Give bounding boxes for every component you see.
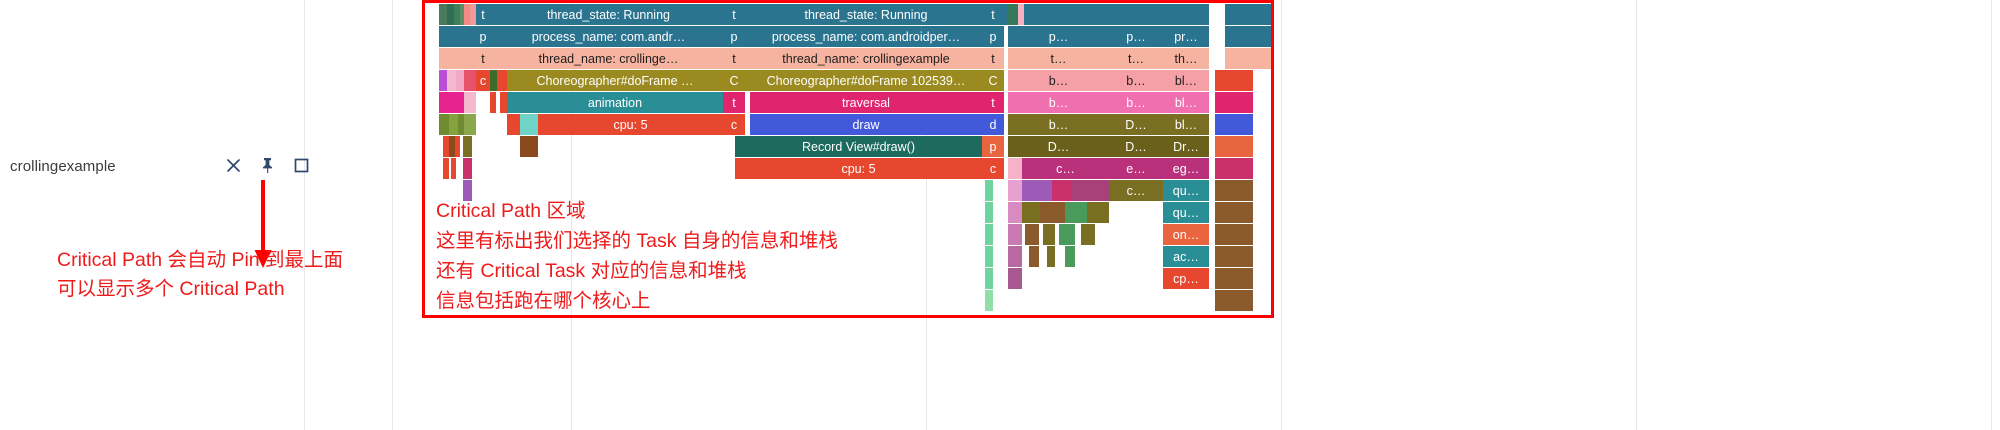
slice[interactable] — [463, 136, 472, 157]
slice[interactable] — [1225, 26, 1271, 47]
slice-labeled[interactable]: b… — [1109, 92, 1163, 113]
slice[interactable] — [1225, 4, 1271, 25]
slice-labeled[interactable]: t — [476, 48, 490, 69]
slice[interactable] — [985, 202, 993, 223]
slice-labeled[interactable]: thread_state: Running — [494, 4, 723, 25]
slice-labeled[interactable]: Choreographer#doFrame … — [507, 70, 723, 91]
time-gridline — [1281, 0, 1282, 430]
slice[interactable] — [1225, 48, 1271, 69]
annotation-main-line-1: Critical Path 区域 — [436, 196, 838, 226]
slice[interactable] — [464, 92, 476, 113]
slice-labeled[interactable]: e… — [1109, 158, 1163, 179]
slice[interactable] — [1059, 224, 1075, 245]
slice[interactable] — [447, 70, 456, 91]
slice-labeled[interactable]: traversal — [750, 92, 982, 113]
slice[interactable] — [490, 92, 496, 113]
slice-labeled[interactable]: c — [982, 158, 1004, 179]
track-shell-divider — [392, 0, 393, 430]
annotation-main-line-2: 这里有标出我们选择的 Task 自身的信息和堆栈 — [436, 226, 838, 256]
slice[interactable] — [1215, 158, 1253, 179]
slice-labeled[interactable]: C — [723, 70, 745, 91]
slice[interactable] — [1215, 114, 1253, 135]
slice[interactable] — [439, 48, 476, 69]
slice[interactable] — [449, 92, 464, 113]
slice-labeled[interactable]: b… — [1008, 70, 1109, 91]
annotation-left-line-2: 可以显示多个 Critical Path — [57, 275, 343, 304]
slice[interactable] — [1163, 4, 1209, 25]
slice-labeled[interactable]: t… — [1109, 48, 1163, 69]
slice[interactable] — [1215, 136, 1253, 157]
track-shell-buttons — [222, 154, 312, 176]
slice-labeled[interactable]: th… — [1163, 48, 1209, 69]
slice[interactable] — [1047, 246, 1055, 267]
slice-labeled[interactable]: t… — [1008, 48, 1109, 69]
slice[interactable] — [463, 158, 472, 179]
slice-labeled[interactable]: thread_name: crollingexample — [750, 48, 982, 69]
slice-labeled[interactable]: c — [723, 114, 745, 135]
slice[interactable] — [1065, 246, 1075, 267]
slice-labeled[interactable]: process_name: com.andr… — [494, 26, 723, 47]
slice-labeled[interactable]: c… — [1022, 158, 1109, 179]
slice[interactable] — [1065, 202, 1087, 223]
slice-labeled[interactable]: on… — [1163, 224, 1209, 245]
screenshot-root: crollingexample — [0, 0, 2000, 430]
slice-labeled[interactable]: t — [982, 4, 1004, 25]
slice[interactable] — [500, 92, 507, 113]
slice[interactable] — [1008, 268, 1022, 289]
slice[interactable] — [1040, 202, 1065, 223]
slice-labeled[interactable]: D… — [1008, 136, 1109, 157]
slice[interactable] — [451, 158, 456, 179]
slice[interactable] — [439, 70, 447, 91]
slice[interactable] — [985, 290, 993, 311]
slice-labeled[interactable]: D… — [1109, 114, 1163, 135]
slice[interactable] — [497, 70, 507, 91]
annotation-left: Critical Path 会自动 Pin 到最上面 可以显示多个 Critic… — [57, 246, 343, 304]
slice-labeled[interactable]: cpu: 5 — [735, 158, 982, 179]
slice-labeled[interactable]: p — [982, 26, 1004, 47]
close-icon[interactable] — [222, 154, 244, 176]
slice-labeled[interactable]: t — [723, 48, 745, 69]
slice-labeled[interactable]: animation — [507, 92, 723, 113]
slice[interactable] — [520, 136, 538, 157]
slice[interactable] — [1022, 180, 1052, 201]
slice-labeled[interactable]: t — [982, 48, 1004, 69]
slice[interactable] — [985, 268, 993, 289]
slice-labeled[interactable]: Dr… — [1163, 136, 1209, 157]
slice[interactable] — [464, 114, 476, 135]
slice[interactable] — [985, 180, 993, 201]
slice-labeled[interactable]: process_name: com.androidper… — [750, 26, 982, 47]
annotation-main-line-3: 还有 Critical Task 对应的信息和堆栈 — [436, 256, 838, 286]
slice[interactable] — [985, 246, 993, 267]
slice[interactable] — [464, 70, 476, 91]
slice-labeled[interactable]: bl… — [1163, 114, 1209, 135]
slice-labeled[interactable]: qu… — [1163, 202, 1209, 223]
slice[interactable] — [985, 224, 993, 245]
slice[interactable] — [1215, 290, 1253, 311]
track-title: crollingexample — [10, 158, 116, 175]
slice[interactable] — [1043, 224, 1055, 245]
slice-labeled[interactable]: Record View#draw() — [735, 136, 982, 157]
slice[interactable] — [1052, 180, 1072, 201]
slice[interactable] — [443, 158, 449, 179]
slice-labeled[interactable]: p — [723, 26, 745, 47]
slice[interactable] — [1072, 180, 1109, 201]
annotation-main: Critical Path 区域 这里有标出我们选择的 Task 自身的信息和堆… — [436, 196, 838, 316]
slice[interactable] — [1008, 246, 1022, 267]
slice[interactable] — [1025, 224, 1039, 245]
slice-labeled[interactable]: D… — [1109, 136, 1163, 157]
slice[interactable] — [1215, 202, 1253, 223]
slice-labeled[interactable]: b… — [1109, 70, 1163, 91]
area-select-icon[interactable] — [290, 154, 312, 176]
slice[interactable] — [1087, 202, 1109, 223]
slice[interactable] — [507, 114, 520, 135]
slice-labeled[interactable]: Choreographer#doFrame 102539… — [750, 70, 982, 91]
annotation-left-line-1: Critical Path 会自动 Pin 到最上面 — [57, 246, 343, 275]
slice-labeled[interactable]: p — [982, 136, 1004, 157]
slice-labeled[interactable]: t — [723, 92, 745, 113]
slice[interactable] — [520, 114, 538, 135]
slice[interactable] — [1215, 70, 1253, 91]
time-gridline — [304, 0, 305, 430]
slice-labeled[interactable]: t — [723, 4, 745, 25]
slice-labeled[interactable]: b… — [1008, 92, 1109, 113]
pin-icon[interactable] — [256, 154, 278, 176]
slice-labeled[interactable]: bl… — [1163, 70, 1209, 91]
slice[interactable] — [1081, 224, 1095, 245]
slice[interactable] — [439, 114, 449, 135]
slice-labeled[interactable]: C — [982, 70, 1004, 91]
slice-labeled[interactable]: p — [476, 26, 490, 47]
slice-labeled[interactable]: t — [476, 4, 490, 25]
slice[interactable] — [447, 4, 454, 25]
annotation-main-line-4: 信息包括跑在哪个核心上 — [436, 286, 838, 316]
slice-labeled[interactable]: pr… — [1163, 26, 1209, 47]
slice-labeled[interactable]: thread_name: crollinge… — [494, 48, 723, 69]
time-gridline — [1991, 0, 1992, 430]
slice-labeled[interactable]: p… — [1008, 26, 1109, 47]
slice[interactable] — [439, 26, 476, 47]
slice[interactable] — [1008, 4, 1018, 25]
slice-labeled[interactable]: t — [982, 92, 1004, 113]
slice[interactable] — [439, 92, 449, 113]
slice[interactable] — [456, 70, 464, 91]
slice[interactable] — [1215, 268, 1253, 289]
slice-labeled[interactable]: qu… — [1163, 180, 1209, 201]
slice-labeled[interactable]: cpu: 5 — [538, 114, 723, 135]
slice[interactable] — [439, 4, 447, 25]
slice-labeled[interactable]: c… — [1109, 180, 1163, 201]
slice-labeled[interactable]: eg… — [1163, 158, 1209, 179]
slice-labeled[interactable]: d — [982, 114, 1004, 135]
slice[interactable] — [1008, 202, 1022, 223]
slice-labeled[interactable]: draw — [750, 114, 982, 135]
slice[interactable] — [1031, 4, 1109, 25]
slice[interactable] — [449, 114, 458, 135]
slice[interactable] — [1008, 224, 1022, 245]
slice[interactable] — [490, 70, 497, 91]
slice[interactable] — [455, 136, 460, 157]
slice[interactable] — [1022, 202, 1040, 223]
slice[interactable] — [1008, 158, 1022, 179]
slice-labeled[interactable]: ac… — [1163, 246, 1209, 267]
slice-labeled[interactable]: cp… — [1163, 268, 1209, 289]
slice-labeled[interactable]: bl… — [1163, 92, 1209, 113]
slice-labeled[interactable]: b… — [1008, 114, 1109, 135]
slice[interactable] — [1029, 246, 1039, 267]
slice-labeled[interactable]: p… — [1109, 26, 1163, 47]
slice[interactable] — [1215, 246, 1253, 267]
slice[interactable] — [1109, 4, 1163, 25]
slice[interactable] — [1024, 4, 1031, 25]
slice[interactable] — [1215, 180, 1253, 201]
track-shell[interactable]: crollingexample — [0, 148, 390, 192]
slice-labeled[interactable]: thread_state: Running — [750, 4, 982, 25]
time-gridline — [1636, 0, 1637, 430]
slice[interactable] — [1215, 92, 1253, 113]
slice-labeled[interactable]: c — [476, 70, 490, 91]
slice[interactable] — [1215, 224, 1253, 245]
slice[interactable] — [1008, 180, 1022, 201]
